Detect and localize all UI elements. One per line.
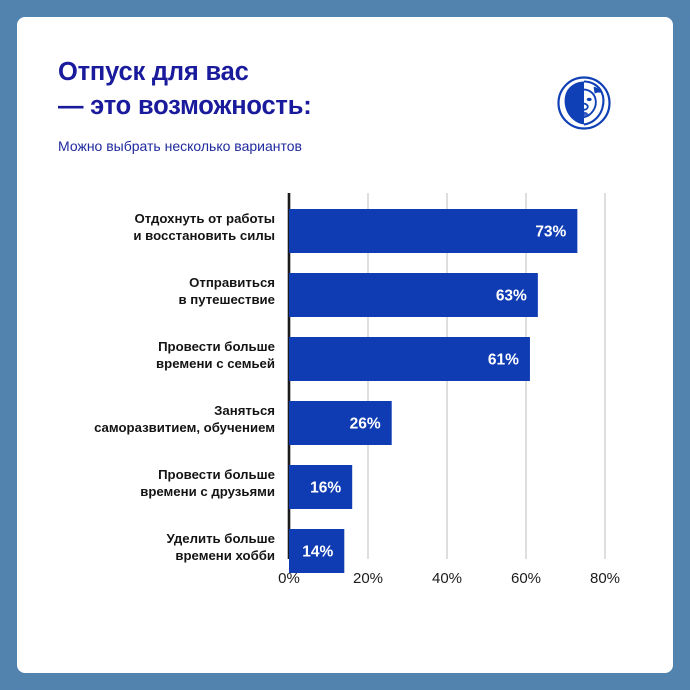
category-label: Занятьсясаморазвитием, обучением (94, 403, 275, 435)
category-label: Провести большевремени с друзьями (140, 467, 275, 499)
bar-chart: 73%Отдохнуть от работыи восстановить сил… (17, 17, 673, 673)
bar-value-label: 16% (310, 480, 341, 497)
bar-value-label: 61% (488, 352, 519, 369)
category-label: Отправитьсяв путешествие (178, 275, 275, 307)
x-axis-tick-label: 20% (353, 570, 383, 587)
x-axis-tick-label: 60% (511, 570, 541, 587)
x-axis-tick-label: 40% (432, 570, 462, 587)
bar-value-label: 63% (496, 288, 527, 305)
x-axis-tick-label: 80% (590, 570, 620, 587)
bar-value-label: 26% (350, 416, 381, 433)
bar-value-label: 14% (302, 544, 333, 561)
outer-frame: Отпуск для вас — это возможность: Можно … (0, 0, 690, 690)
bar[interactable] (289, 209, 577, 253)
infographic-card: Отпуск для вас — это возможность: Можно … (17, 17, 673, 673)
category-label: Уделить большевремени хобби (167, 531, 275, 563)
bar-value-label: 73% (535, 224, 566, 241)
category-label: Отдохнуть от работыи восстановить силы (133, 211, 275, 243)
x-axis-tick-label: 0% (278, 570, 300, 587)
category-label: Провести большевремени с семьей (156, 339, 275, 371)
